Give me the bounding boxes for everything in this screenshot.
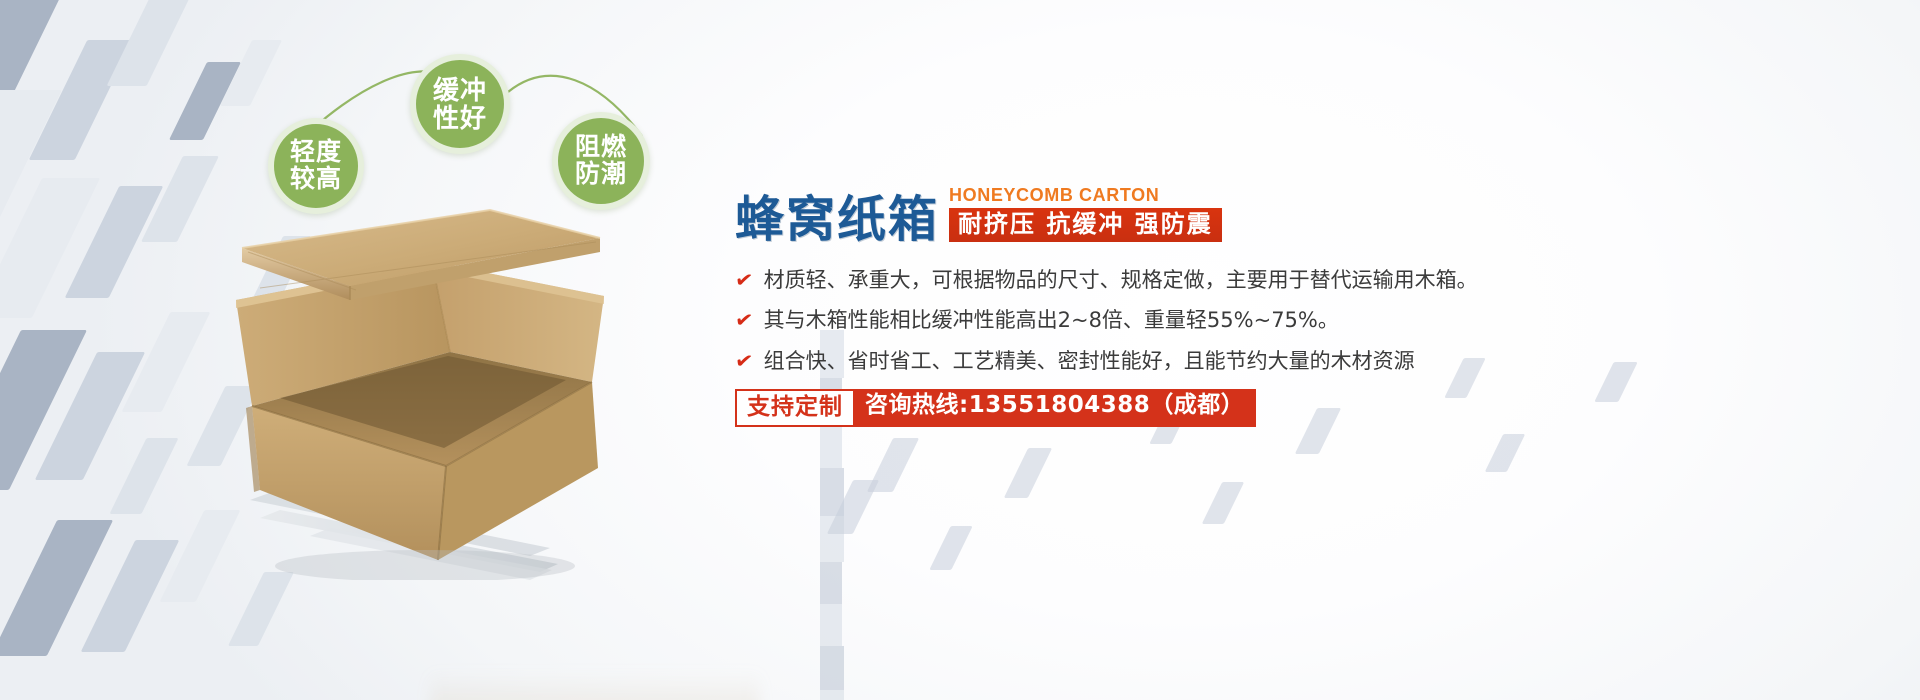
hotline-number: 13551804388 <box>969 392 1151 418</box>
custom-order-badge: 支持定制 <box>735 389 855 428</box>
content-block: 蜂窝纸箱 HONEYCOMB CARTON 耐挤压 抗缓冲 强防震 ✔ 材质轻、… <box>735 186 1845 427</box>
list-item: ✔ 材质轻、承重大，可根据物品的尺寸、规格定做，主要用于替代运输用木箱。 <box>735 268 1845 293</box>
hotline-label: 咨询热线: <box>865 392 969 418</box>
bullet-text: 材质轻、承重大，可根据物品的尺寸、规格定做，主要用于替代运输用木箱。 <box>764 268 1478 293</box>
hotline-city: （成都） <box>1150 392 1244 418</box>
feature-flame-line2: 防潮 <box>575 161 627 188</box>
check-icon: ✔ <box>733 348 754 374</box>
feature-circle-flame: 阻燃 防潮 <box>552 112 650 210</box>
bullet-text: 组合快、省时省工、工艺精美、密封性能好，且能节约大量的木材资源 <box>764 349 1415 374</box>
feature-cushion-line1: 缓冲 <box>433 76 487 104</box>
check-icon: ✔ <box>733 308 754 334</box>
promo-banner: 轻度 较高 缓冲 性好 阻燃 防潮 <box>0 0 1920 700</box>
bullet-text: 其与木箱性能相比缓冲性能高出2~8倍、重量轻55%~75%。 <box>764 308 1339 333</box>
title-english: HONEYCOMB CARTON <box>949 186 1222 204</box>
tagline-badge: 耐挤压 抗缓冲 强防震 <box>949 208 1222 242</box>
title-side: HONEYCOMB CARTON 耐挤压 抗缓冲 强防震 <box>949 186 1222 244</box>
product-reflection <box>430 670 760 700</box>
hotline-badge[interactable]: 咨询热线:13551804388（成都） <box>855 389 1256 428</box>
contact-bar: 支持定制 咨询热线:13551804388（成都） <box>735 389 1256 428</box>
feature-bullet-list: ✔ 材质轻、承重大，可根据物品的尺寸、规格定做，主要用于替代运输用木箱。 ✔ 其… <box>735 268 1845 374</box>
feature-flame-line1: 阻燃 <box>575 134 627 161</box>
list-item: ✔ 其与木箱性能相比缓冲性能高出2~8倍、重量轻55%~75%。 <box>735 308 1845 333</box>
honeycomb-carton-illustration <box>200 200 720 580</box>
feature-circle-cushion: 缓冲 性好 <box>410 54 510 154</box>
feature-light-line1: 轻度 <box>290 139 342 166</box>
check-icon: ✔ <box>733 268 754 294</box>
product-image <box>200 200 720 580</box>
feature-cushion-line2: 性好 <box>433 104 487 132</box>
list-item: ✔ 组合快、省时省工、工艺精美、密封性能好，且能节约大量的木材资源 <box>735 349 1845 374</box>
feature-light-line2: 较高 <box>290 166 342 193</box>
title-row: 蜂窝纸箱 HONEYCOMB CARTON 耐挤压 抗缓冲 强防震 <box>735 186 1845 244</box>
page-title: 蜂窝纸箱 <box>735 195 939 244</box>
